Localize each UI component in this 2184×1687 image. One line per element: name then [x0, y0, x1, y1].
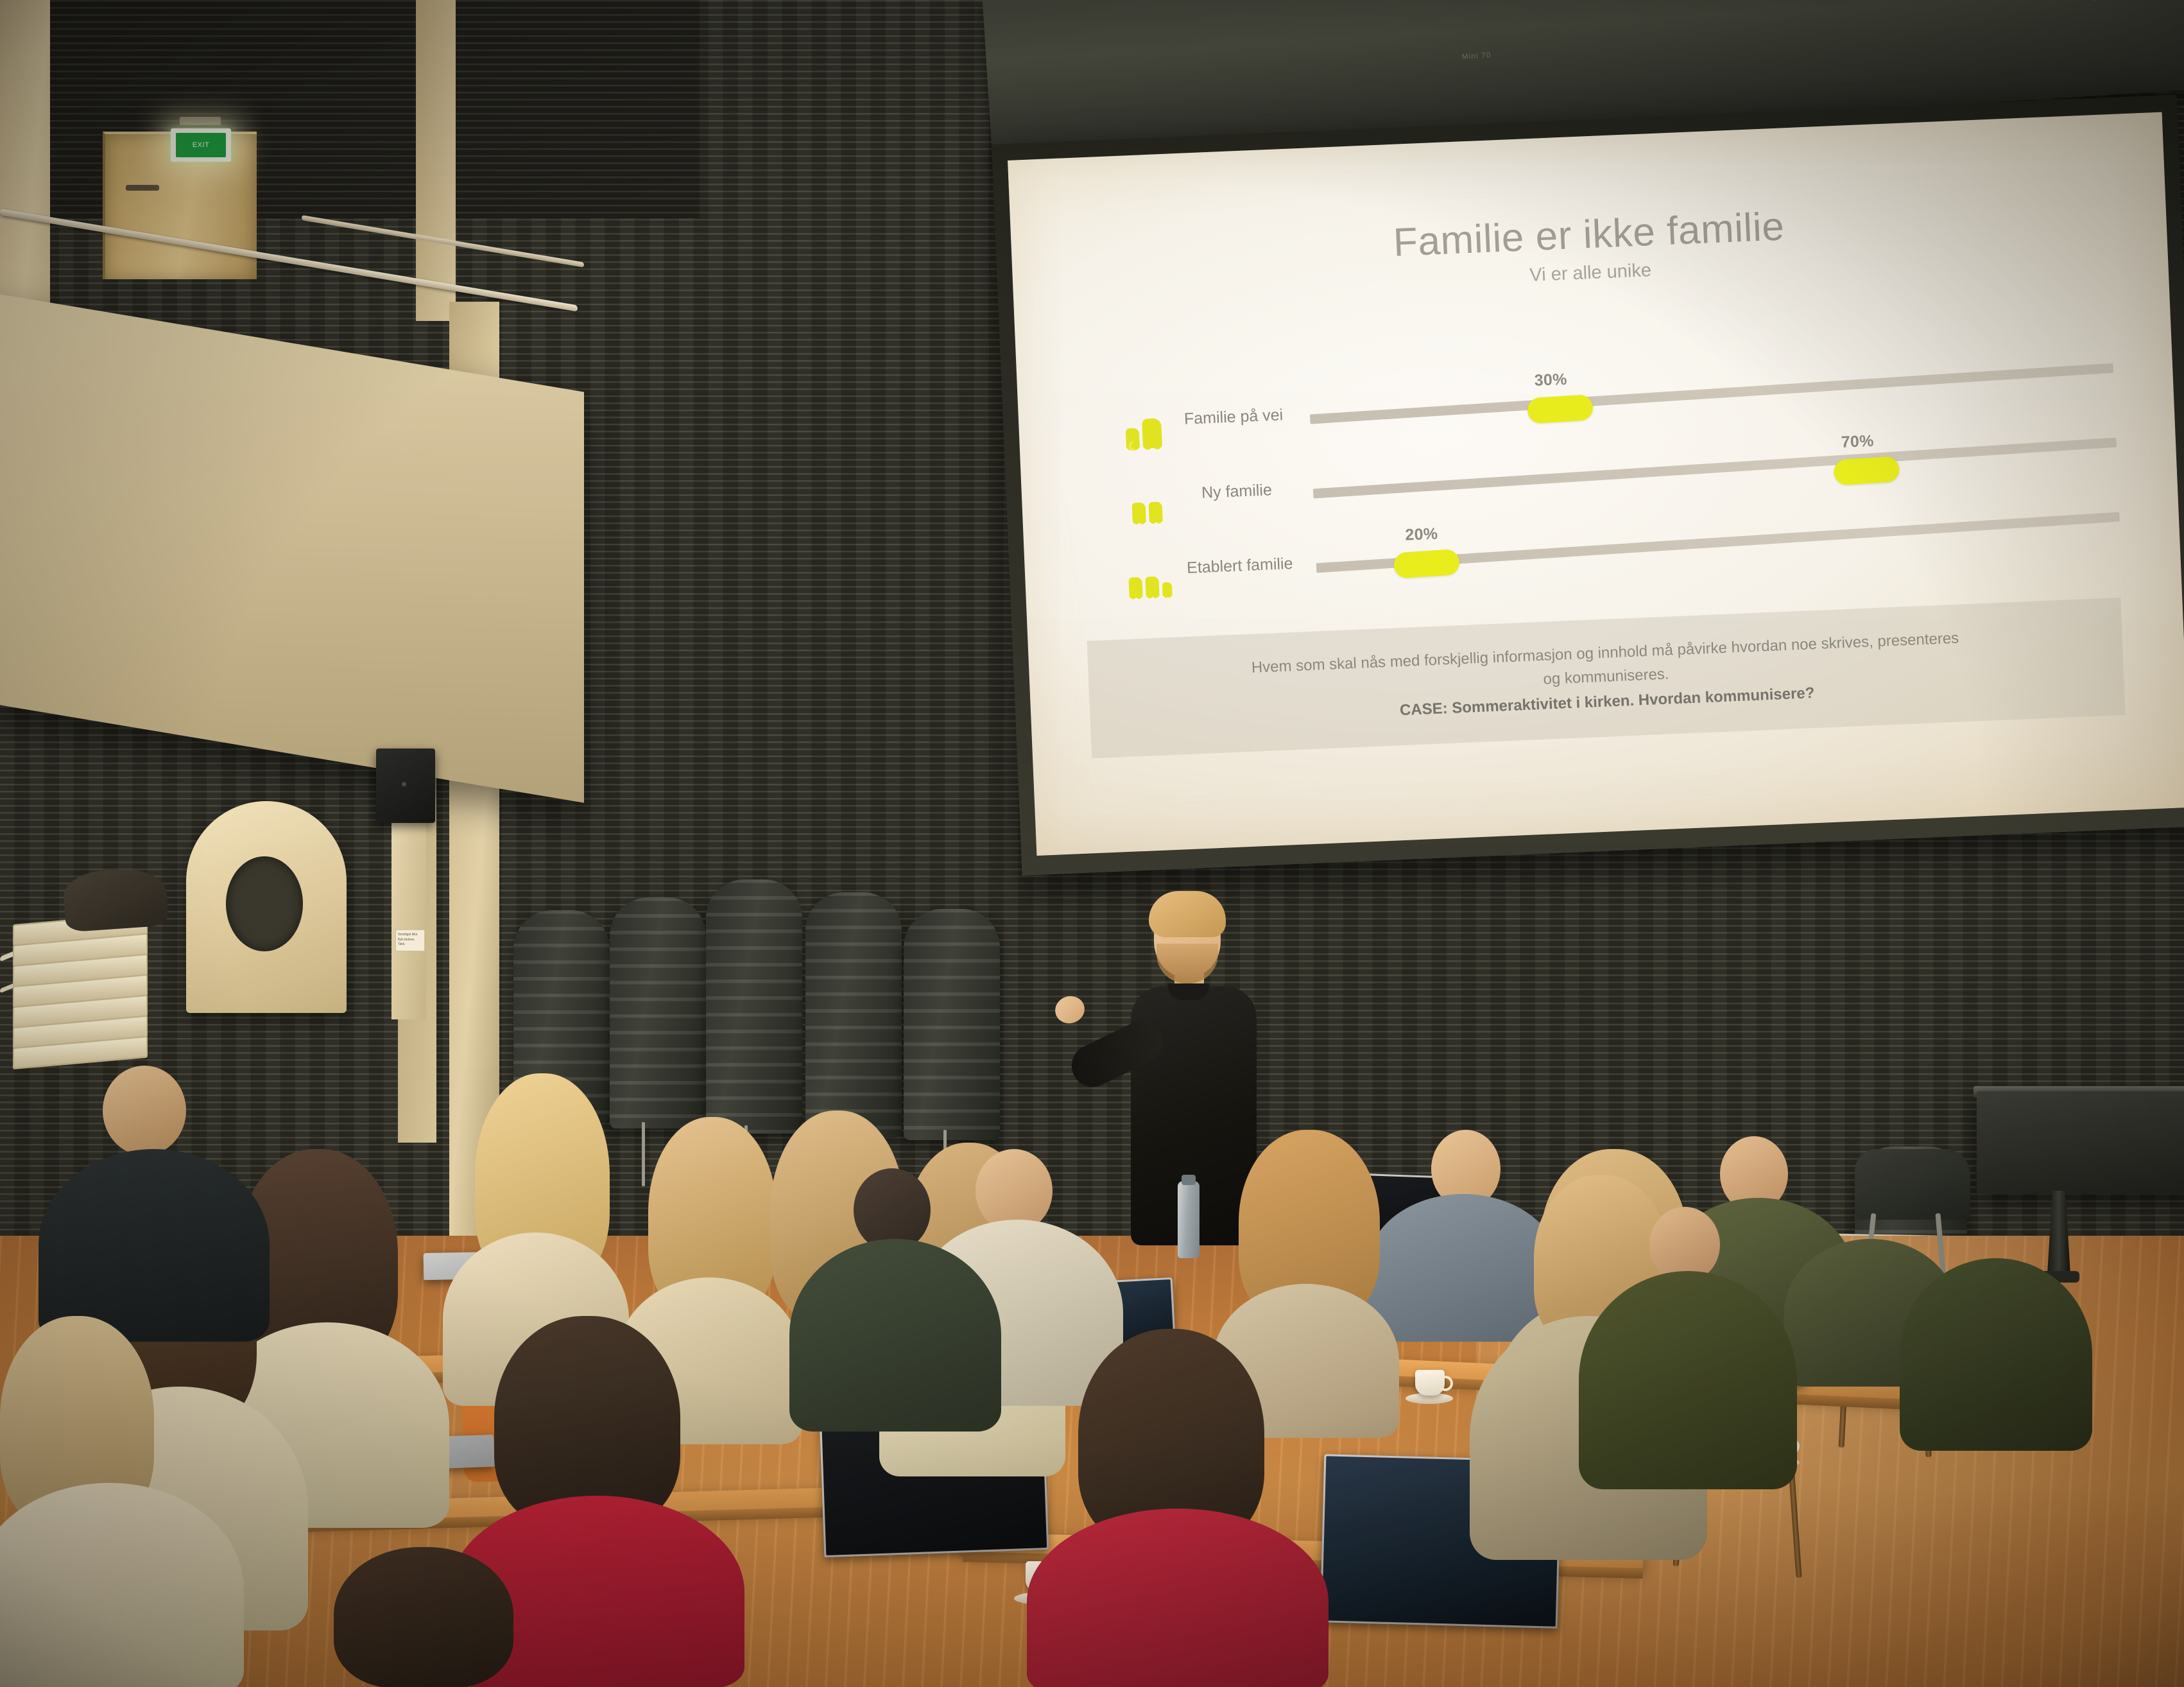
- pillar-with-sign: [391, 801, 426, 1019]
- stacked-chairs: [706, 879, 802, 1134]
- torso: [1367, 1194, 1560, 1342]
- wall-speaker: [376, 748, 435, 823]
- slider-marker[interactable]: [1527, 394, 1594, 424]
- hair: [334, 1547, 513, 1687]
- projection-screen-frame: Familie er ikke familie Vi er alle unike: [992, 95, 2184, 876]
- projection-screen-surface: Familie er ikke familie Vi er alle unike: [1008, 112, 2184, 856]
- figure-adult: [1148, 501, 1162, 523]
- torso: [1900, 1258, 2092, 1451]
- figure-adult: [1128, 577, 1142, 598]
- row-label: Ny familie: [1176, 479, 1296, 503]
- slider-marker[interactable]: [1834, 456, 1900, 485]
- wall-pilaster-upper: [416, 0, 456, 321]
- couple-icon: [1114, 466, 1178, 524]
- value-label: 30%: [1534, 370, 1567, 390]
- stacked-chairs: [904, 909, 1000, 1140]
- torso-red: [1027, 1509, 1328, 1687]
- arch-sculpture: [186, 801, 347, 1013]
- housing-model-label: Mini 70: [1461, 50, 1491, 61]
- presentation-slide: Familie er ikke familie Vi er alle unike: [1008, 112, 2184, 856]
- figure-adult: [1131, 502, 1146, 523]
- lecture-hall-scene: EXIT Vennligst ikke flytt stolene. Takk.…: [0, 0, 2184, 1687]
- exit-sign-label: EXIT: [176, 133, 226, 157]
- grand-piano: [1977, 1091, 2184, 1194]
- slide-footer-box: Hvem som skal nås med forskjellig inform…: [1087, 598, 2126, 759]
- presenter-collar: [1168, 983, 1209, 1000]
- figure-pregnant: [1126, 428, 1140, 449]
- projector-brand-label: GRANDVIEW: [2090, 0, 2164, 3]
- figure-adult: [1142, 418, 1162, 448]
- arch-oval-opening: [226, 856, 303, 951]
- presenter-hair: [1149, 891, 1226, 937]
- stacked-chairs: [805, 892, 902, 1138]
- exit-sign-bracket: [180, 117, 221, 125]
- piano-stool[interactable]: [1855, 1149, 1970, 1220]
- slider-rows: Familie på vei 30%: [1076, 343, 2122, 609]
- stacked-chairs: [610, 897, 706, 1129]
- torso: [789, 1239, 1001, 1432]
- row-label: Etablert familie: [1180, 553, 1300, 578]
- stacked-crates: [13, 912, 160, 1085]
- torso: [39, 1149, 270, 1342]
- family-with-children-icon: [1117, 541, 1182, 598]
- presenter-beard: [1156, 944, 1218, 983]
- figure-adult: [1145, 576, 1159, 598]
- slider-marker[interactable]: [1393, 549, 1460, 578]
- slider-track: [1309, 363, 2113, 424]
- speaker-led-icon: [402, 782, 406, 786]
- row-label: Familie på vei: [1174, 404, 1294, 429]
- value-label: 70%: [1841, 432, 1874, 452]
- chair-leg: [642, 1122, 645, 1186]
- door-handle[interactable]: [126, 185, 159, 191]
- exit-sign: EXIT: [171, 128, 231, 162]
- bottle-cap: [1182, 1175, 1196, 1185]
- value-label: 20%: [1405, 524, 1438, 544]
- figure-child: [1162, 582, 1172, 597]
- wall-notice-sign: Vennligst ikke flytt stolene. Takk.: [395, 930, 425, 951]
- expecting-couple-icon: [1111, 392, 1175, 450]
- slider-track: [1312, 438, 2117, 499]
- head: [103, 1066, 186, 1155]
- torso: [1579, 1271, 1797, 1489]
- water-bottle: [1178, 1181, 1199, 1258]
- coffee-cup: [1415, 1370, 1445, 1396]
